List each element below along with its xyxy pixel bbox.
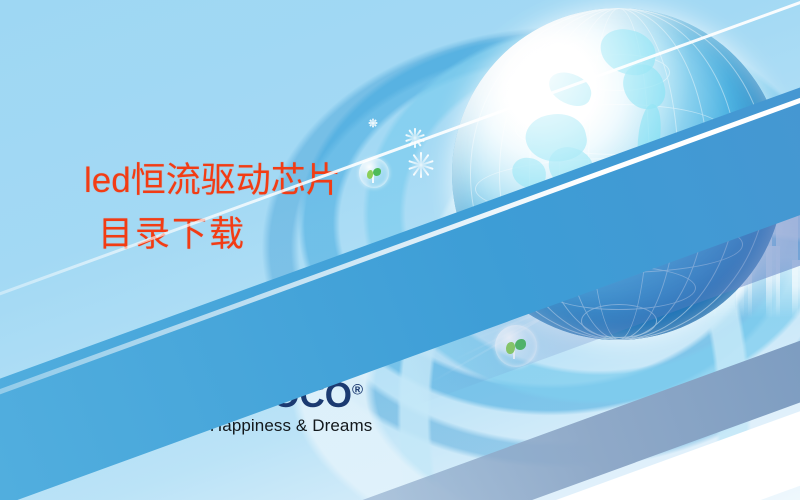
- diagonal-ribbons: [0, 0, 800, 500]
- promo-banner: led恒流驱动芯片 目录下载 FORSINOCO® For Your Happi…: [0, 0, 800, 500]
